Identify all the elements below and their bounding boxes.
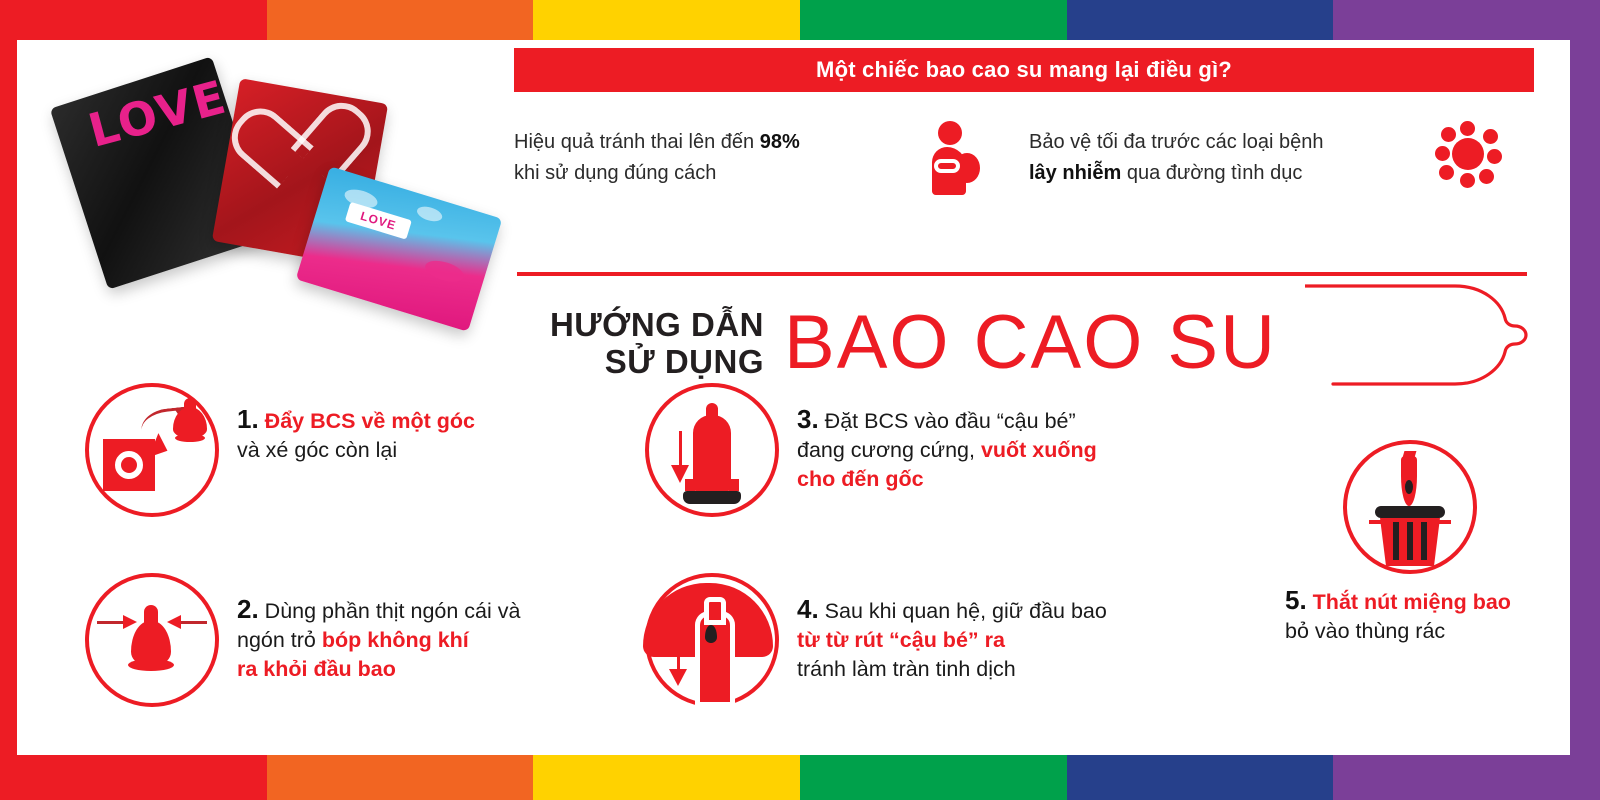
rainbow-stripe-red [0,755,267,800]
rainbow-stripe-purple [1333,0,1600,40]
rainbow-stripe-purple [1333,755,1600,800]
fact2-line2-post: qua đường tình dục [1121,162,1302,184]
step-3-text: 3. Đặt BCS vào đầu “cậu bé” đang cương c… [797,383,1097,494]
step-2-part-2: ngón trỏ [237,628,322,652]
fact-contraception: Hiệu quả tránh thai lên đến 98% khi sử d… [514,118,1029,198]
rainbow-border-top [0,0,1600,40]
withdraw-hold-base-icon [645,573,779,707]
fact2-bold: lây nhiễm [1029,162,1121,184]
poster-content: LOVE LOVE Một chiếc bao cao su mang lại … [17,40,1570,755]
title-small-line1: HƯỚNG DẪN [514,306,764,343]
step-2-number: 2. [237,594,259,624]
step-2-part-3: bóp không khí [322,628,469,652]
fact-sti-text: Bảo vệ tối đa trước các loại bệnh lây nh… [1029,127,1421,189]
rainbow-stripe-blue [1067,755,1334,800]
step-3-part-2: đang cương cứng, [797,438,981,462]
step-5: 5. Thắt nút miệng bao bỏ vào thùng rác [1285,440,1535,646]
step-2-part-4: ra khỏi đầu bao [237,657,396,681]
step-3: 3. Đặt BCS vào đầu “cậu bé” đang cương c… [645,383,1097,517]
packet-blue-label: LOVE [345,202,412,240]
fact1-line1-pre: Hiệu quả tránh thai lên đến [514,131,760,153]
step-2-part-1: Dùng phần thịt ngón cái và [265,599,521,623]
step-2: 2. Dùng phần thịt ngón cái và ngón trỏ b… [85,573,520,707]
title-big: BAO CAO SU [784,305,1277,381]
packet-blue: LOVE [296,166,503,331]
step-3-number: 3. [797,404,819,434]
step-1: 1. Đẩy BCS về một góc và xé góc còn lại [85,383,475,517]
step-5-text: 5. Thắt nút miệng bao bỏ vào thùng rác [1285,582,1535,646]
title-small: HƯỚNG DẪN SỬ DỤNG [514,306,764,380]
fact1-line2: khi sử dụng đúng cách [514,162,716,184]
fact-contraception-text: Hiệu quả tránh thai lên đến 98% khi sử d… [514,127,906,189]
rainbow-stripe-orange [267,755,534,800]
step-4: 4. Sau khi quan hệ, giữ đầu bao từ từ rú… [645,573,1107,707]
pregnant-woman-icon [920,121,986,195]
step-3-part-1: Đặt BCS vào đầu “cậu bé” [825,409,1076,433]
fact1-percent: 98% [760,131,800,153]
step-1-text: 1. Đẩy BCS về một góc và xé góc còn lại [237,383,475,465]
step-5-part-1: Thắt nút miệng bao [1313,590,1511,614]
packet-black-label: LOVE [85,85,231,260]
step-3-part-3: vuốt xuống [981,438,1097,462]
rainbow-stripe-yellow [533,0,800,40]
step-4-part-1: Sau khi quan hệ, giữ đầu bao [825,599,1107,623]
step-5-part-2: bỏ vào thùng rác [1285,619,1445,643]
rainbow-border-bottom [0,755,1600,800]
rainbow-stripe-orange [267,0,534,40]
fact-sti-protection: Bảo vệ tối đa trước các loại bệnh lây nh… [1029,118,1544,198]
tie-knot-trash-bin-icon [1343,440,1477,574]
rainbow-stripe-red [0,0,267,40]
squeeze-air-arrows-icon [85,573,219,707]
rainbow-stripe-yellow [533,755,800,800]
step-1-part-2: và xé góc còn lại [237,438,397,462]
step-4-part-2: từ từ rút “cậu bé” ra [797,628,1005,652]
header-banner-title: Một chiếc bao cao su mang lại điều gì? [816,57,1232,83]
step-4-text: 4. Sau khi quan hệ, giữ đầu bao từ từ rú… [797,573,1107,684]
condom-outline-graphic [1305,274,1535,392]
step-4-part-3: tránh làm tràn tinh dịch [797,657,1016,681]
condom-packets-photo: LOVE LOVE [57,50,477,350]
rainbow-stripe-green [800,0,1067,40]
step-2-text: 2. Dùng phần thịt ngón cái và ngón trỏ b… [237,573,520,684]
infographic-poster: LOVE LOVE Một chiếc bao cao su mang lại … [0,0,1600,800]
step-4-number: 4. [797,594,819,624]
fact2-line1: Bảo vệ tối đa trước các loại bệnh [1029,131,1323,153]
facts-row: Hiệu quả tránh thai lên đến 98% khi sử d… [514,118,1544,198]
condom-roll-down-icon [645,383,779,517]
virus-icon [1435,121,1501,195]
rainbow-stripe-green [800,755,1067,800]
header-banner: Một chiếc bao cao su mang lại điều gì? [514,48,1534,92]
step-1-part-1: Đẩy BCS về một góc [265,409,475,433]
border-edge-right [1570,0,1600,800]
step-1-number: 1. [237,404,259,434]
step-5-number: 5. [1285,585,1307,615]
step-3-part-4: cho đến gốc [797,467,924,491]
rainbow-stripe-blue [1067,0,1334,40]
condom-packet-tear-icon [85,383,219,517]
border-edge-left [0,0,17,800]
title-small-line2: SỬ DỤNG [514,343,764,380]
